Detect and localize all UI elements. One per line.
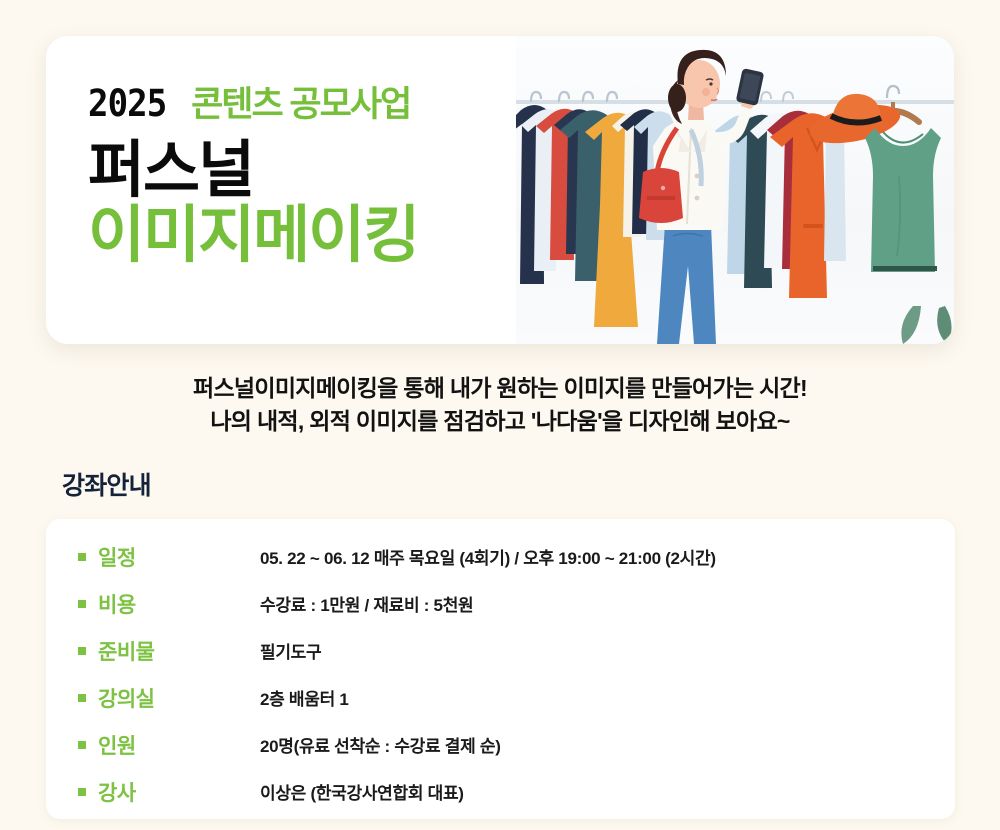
info-value: 수강료 : 1만원 / 재료비 : 5천원 bbox=[260, 591, 473, 616]
info-value: 이상은 (한국강사연합회 대표) bbox=[260, 779, 464, 804]
promo-banner: 2025 콘텐츠 공모사업 퍼스널 이미지메이킹 bbox=[46, 36, 954, 344]
banner-year: 2025 bbox=[88, 82, 166, 125]
square-bullet-icon bbox=[78, 788, 86, 796]
square-bullet-icon bbox=[78, 553, 86, 561]
info-value: 2층 배움터 1 bbox=[260, 685, 349, 710]
info-row-capacity: 인원 20명(유료 선착순 : 수강료 결제 순) bbox=[46, 721, 955, 768]
banner-text-block: 2025 콘텐츠 공모사업 퍼스널 이미지메이킹 bbox=[46, 36, 516, 344]
square-bullet-icon bbox=[78, 741, 86, 749]
square-bullet-icon bbox=[78, 694, 86, 702]
course-info-panel: 일정 05. 22 ~ 06. 12 매주 목요일 (4회기) / 오후 19:… bbox=[46, 519, 955, 819]
banner-headline-line2: 이미지메이킹 bbox=[88, 204, 516, 267]
info-label: 일정 bbox=[98, 542, 260, 572]
info-value: 05. 22 ~ 06. 12 매주 목요일 (4회기) / 오후 19:00 … bbox=[260, 544, 716, 569]
banner-eyebrow: 2025 콘텐츠 공모사업 bbox=[88, 76, 516, 127]
info-row-schedule: 일정 05. 22 ~ 06. 12 매주 목요일 (4회기) / 오후 19:… bbox=[46, 533, 955, 580]
banner-program-label: 콘텐츠 공모사업 bbox=[191, 76, 410, 127]
description-line-1: 퍼스널이미지메이킹을 통해 내가 원하는 이미지를 만들어가는 시간! bbox=[0, 372, 1000, 405]
info-row-cost: 비용 수강료 : 1만원 / 재료비 : 5천원 bbox=[46, 580, 955, 627]
shopping-illustration-svg bbox=[516, 36, 954, 344]
info-label: 인원 bbox=[98, 730, 260, 760]
square-bullet-icon bbox=[78, 647, 86, 655]
info-row-classroom: 강의실 2층 배움터 1 bbox=[46, 674, 955, 721]
course-description: 퍼스널이미지메이킹을 통해 내가 원하는 이미지를 만들어가는 시간! 나의 내… bbox=[0, 372, 1000, 437]
description-line-2: 나의 내적, 외적 이미지를 점검하고 '나다움'을 디자인해 보아요~ bbox=[0, 405, 1000, 438]
square-bullet-icon bbox=[78, 600, 86, 608]
info-value: 필기도구 bbox=[260, 638, 321, 663]
banner-headline-line1: 퍼스널 bbox=[88, 139, 516, 202]
section-title-course-info: 강좌안내 bbox=[62, 466, 151, 502]
info-value: 20명(유료 선착순 : 수강료 결제 순) bbox=[260, 732, 501, 757]
info-label: 강의실 bbox=[98, 683, 260, 713]
clothing-rail bbox=[516, 100, 954, 104]
banner-illustration bbox=[516, 36, 954, 344]
info-label: 비용 bbox=[98, 589, 260, 619]
info-row-instructor: 강사 이상은 (한국강사연합회 대표) bbox=[46, 768, 955, 815]
info-row-materials: 준비물 필기도구 bbox=[46, 627, 955, 674]
info-label: 준비물 bbox=[98, 636, 260, 666]
info-label: 강사 bbox=[98, 777, 260, 807]
